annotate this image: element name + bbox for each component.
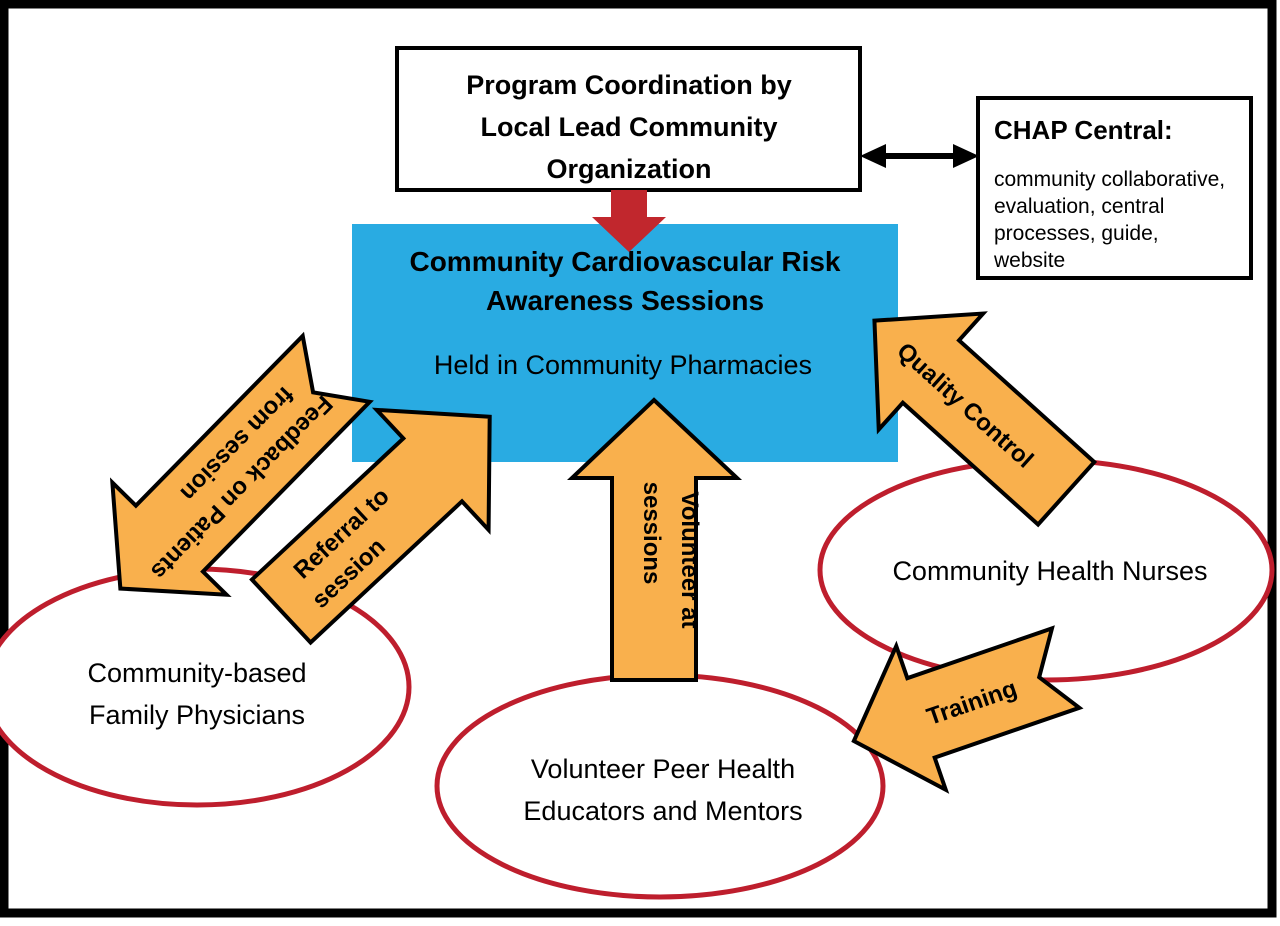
core-box-title-line1: Community Cardiovascular Risk (409, 246, 840, 277)
chap-central-box[interactable]: CHAP Central: community collaborative, e… (978, 98, 1251, 278)
arrow-volunteer-label-line1: Volunteer at (676, 492, 703, 629)
program-coordination-line3: Organization (546, 154, 711, 184)
chap-program-diagram: Community-based Family Physicians Volunt… (0, 0, 1280, 926)
chap-central-body-line4: website (993, 249, 1065, 272)
label-family-physicians-line2: Family Physicians (89, 700, 305, 730)
label-peer-educators-line1: Volunteer Peer Health (531, 754, 795, 784)
group-peer-educators[interactable]: Volunteer Peer Health Educators and Ment… (437, 675, 883, 897)
program-coordination-line1: Program Coordination by (466, 70, 792, 100)
chap-central-body-line3: processes, guide, (994, 222, 1159, 245)
label-family-physicians-line1: Community-based (87, 658, 306, 688)
ellipse-peer-educators (437, 675, 883, 897)
arrow-volunteer-label-line2: sessions (638, 482, 665, 585)
core-box-subtitle: Held in Community Pharmacies (434, 350, 812, 380)
chap-central-heading: CHAP Central: (994, 115, 1173, 145)
chap-central-body-line2: evaluation, central (994, 195, 1164, 218)
label-health-nurses: Community Health Nurses (892, 556, 1207, 586)
core-box-title-line2: Awareness Sessions (486, 285, 764, 316)
label-peer-educators-line2: Educators and Mentors (523, 796, 802, 826)
chap-central-body-line1: community collaborative, (994, 168, 1225, 191)
program-coordination-box[interactable]: Program Coordination by Local Lead Commu… (397, 48, 860, 190)
diagram-canvas: Community-based Family Physicians Volunt… (0, 0, 1280, 926)
program-coordination-line2: Local Lead Community (480, 112, 777, 142)
